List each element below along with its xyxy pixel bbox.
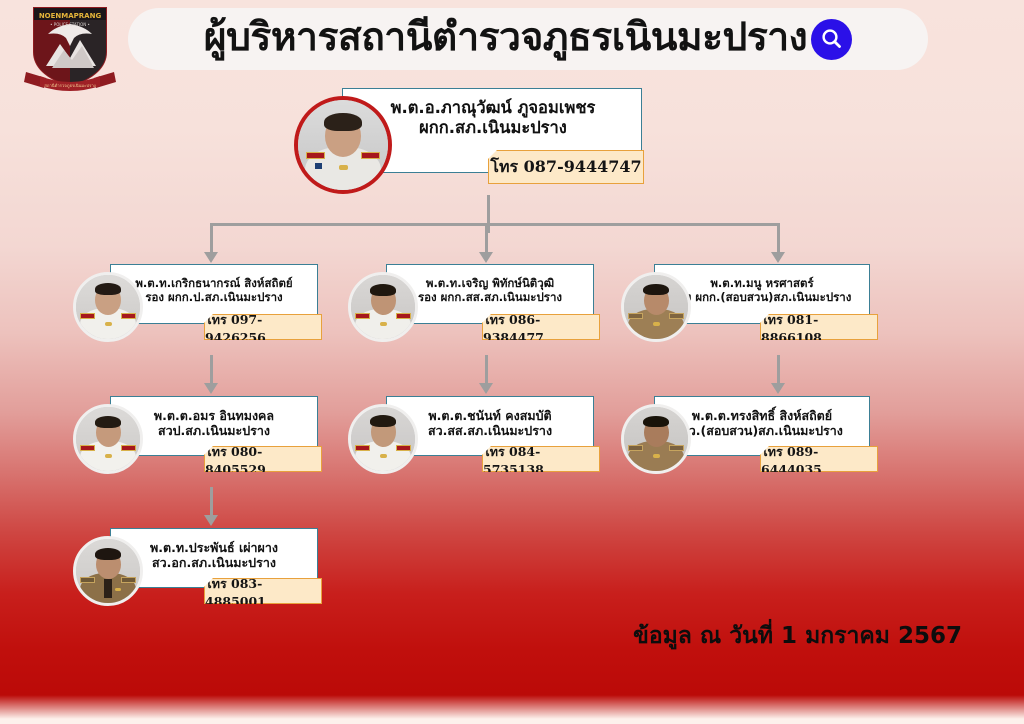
title-banner: ผู้บริหารสถานีตำรวจภูธรเนินมะปราง: [128, 8, 928, 70]
phone-badge[interactable]: โทร 080-8405529: [204, 446, 322, 472]
noenmaprang-police-badge-logo: NOENMAPRANG • POLICE STATION • สถานีตำรว…: [16, 2, 124, 94]
officer-name: พ.ต.ต.ชนันท์ คงสมบัติ: [388, 408, 592, 423]
officer-name: พ.ต.ท.เกริกธนากรณ์ สิงห์สถิตย์: [112, 276, 316, 290]
phone-badge[interactable]: โทร 097-9426256: [204, 314, 322, 340]
phone-badge[interactable]: โทร 086-9384477: [482, 314, 600, 340]
phone-badge[interactable]: โทร 083-4885001: [204, 578, 322, 604]
portrait-inspector-investigation: [348, 404, 418, 474]
svg-text:• POLICE STATION •: • POLICE STATION •: [50, 22, 90, 27]
card-name-role: พ.ต.ต.ชนันท์ คงสมบัติ สว.สส.สภ.เนินมะปรา…: [388, 408, 592, 439]
svg-text:NOENMAPRANG: NOENMAPRANG: [39, 12, 102, 20]
officer-role: สว.สส.สภ.เนินมะปราง: [388, 423, 592, 438]
card-name-role: พ.ต.ท.เกริกธนากรณ์ สิงห์สถิตย์ รอง ผกก.ป…: [112, 276, 316, 304]
officer-name: พ.ต.อ.ภาณุวัฒน์ ภูจอมเพชร: [352, 98, 634, 118]
page-header: NOENMAPRANG • POLICE STATION • สถานีตำรว…: [0, 0, 1024, 88]
search-icon[interactable]: [811, 19, 852, 60]
portrait-inspector-patrol: [73, 404, 143, 474]
officer-role: รอง ผกก.สส.สภ.เนินมะปราง: [388, 290, 592, 304]
phone-badge[interactable]: โทร 087-9444747: [488, 150, 644, 184]
phone-badge[interactable]: โทร 089-6444035: [760, 446, 878, 472]
page-title: ผู้บริหารสถานีตำรวจภูธรเนินมะปราง: [204, 18, 807, 61]
portrait-deputy-investigation: [348, 272, 418, 342]
officer-role: ผกก.สภ.เนินมะปราง: [352, 118, 634, 138]
data-as-of-date: ข้อมูล ณ วันที่ 1 มกราคม 2567: [633, 618, 962, 654]
officer-name: พ.ต.ท.เจริญ พิทักษ์นิติวุฒิ: [388, 276, 592, 290]
portrait-inspector-admin: [73, 536, 143, 606]
portrait-chief: [294, 96, 392, 194]
card-name-role: พ.ต.อ.ภาณุวัฒน์ ภูจอมเพชร ผกก.สภ.เนินมะป…: [352, 98, 634, 138]
phone-badge[interactable]: โทร 081-8866108: [760, 314, 878, 340]
portrait-deputy-prevention: [73, 272, 143, 342]
card-name-role: พ.ต.ท.เจริญ พิทักษ์นิติวุฒิ รอง ผกก.สส.ส…: [388, 276, 592, 304]
phone-badge[interactable]: โทร 084-5735138: [482, 446, 600, 472]
officer-name: พ.ต.ท.ประพันธ์ เผ่าผาง: [112, 540, 316, 555]
officer-name: พ.ต.ต.อมร อินทมงคล: [112, 408, 316, 423]
portrait-deputy-inquiry: [621, 272, 691, 342]
portrait-inspector-inquiry: [621, 404, 691, 474]
